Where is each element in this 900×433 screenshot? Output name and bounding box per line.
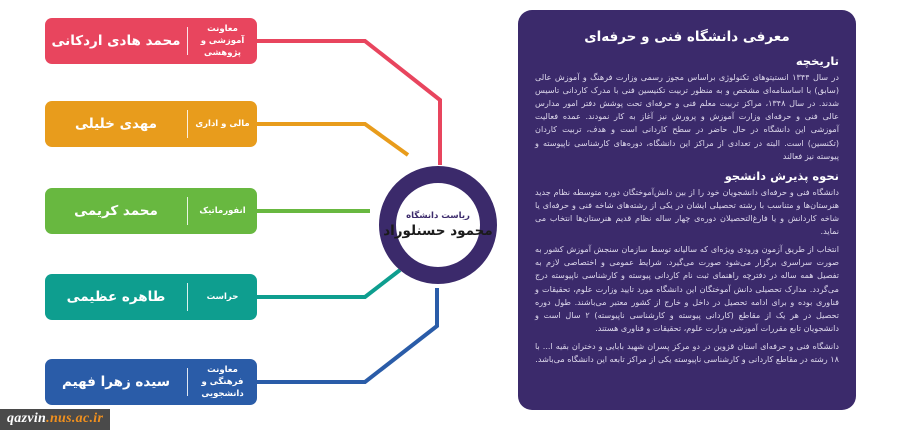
org-unit-role-line2-1: آموزشی و پژوهشی [201, 36, 245, 58]
connector-line-4 [257, 270, 400, 297]
org-unit-divider-2 [187, 110, 188, 138]
org-unit-role-2: مالی و اداری [188, 101, 257, 147]
org-center-role: ریاست دانشگاه [406, 211, 470, 221]
info-section-paragraph-admission-2: انتخاب از طریق آزمون ورودی ویژه‌ای که سا… [535, 243, 839, 335]
connector-line-2 [257, 124, 408, 155]
org-unit-role-5: معاونت فرهنگی و دانشجویی [188, 359, 257, 405]
org-unit-role-line2-5: فرهنگی و دانشجویی [201, 377, 243, 399]
org-unit-role-1: معاونت آموزشی و پژوهشی [188, 18, 257, 64]
org-unit-divider-5 [187, 368, 188, 396]
org-unit-person-5: سیده زهرا فهیم [45, 359, 187, 405]
info-section-paragraph-admission-1: دانشگاه فنی و حرفه‌ای دانشجویان خود را ا… [535, 186, 839, 238]
org-unit-role-line1-1: معاونت [207, 24, 238, 34]
info-panel-title: معرفی دانشگاه فنی و حرفه‌ای [535, 29, 839, 45]
org-unit-box-1[interactable]: معاونت آموزشی و پژوهشی محمد هادی اردکانی [45, 18, 257, 64]
connector-line-1 [257, 41, 440, 165]
org-center-person: محمود حسنلوراد [383, 223, 493, 239]
org-unit-person-4: طاهره عظیمی [45, 274, 187, 320]
site-watermark: qazvin.nus.ac.ir [0, 409, 110, 430]
org-unit-role-line1-4: حراست [207, 291, 239, 303]
org-unit-role-line1-2: مالی و اداری [195, 118, 249, 130]
info-section-heading-history: تاریخچه [535, 54, 839, 68]
org-unit-box-5[interactable]: معاونت فرهنگی و دانشجویی سیده زهرا فهیم [45, 359, 257, 405]
org-unit-box-2[interactable]: مالی و اداری مهدی خلیلی [45, 101, 257, 147]
org-unit-person-1: محمد هادی اردکانی [45, 18, 187, 64]
watermark-prefix: qazvin [7, 411, 46, 426]
info-panel: معرفی دانشگاه فنی و حرفه‌ای تاریخچه در س… [518, 10, 856, 410]
org-unit-divider-3 [187, 197, 188, 225]
info-section-heading-admission: نحوه پذیرش دانشجو [535, 169, 839, 183]
info-section-paragraph-history-1: در سال ۱۳۴۴ انستیتوهای تکنولوژی براساس م… [535, 71, 839, 163]
org-unit-person-3: محمد کریمی [45, 188, 187, 234]
org-unit-person-2: مهدی خلیلی [45, 101, 187, 147]
org-unit-box-3[interactable]: انفورماتیک محمد کریمی [45, 188, 257, 234]
connector-line-5 [257, 288, 437, 382]
org-chart-region: معاونت آموزشی و پژوهشی محمد هادی اردکانی… [0, 0, 520, 433]
info-section-paragraph-admission-3: دانشگاه فنی و حرفه‌ای استان قزوین در دو … [535, 340, 839, 366]
org-unit-divider-4 [187, 283, 188, 311]
org-unit-divider-1 [187, 27, 188, 55]
org-chart-page: معاونت آموزشی و پژوهشی محمد هادی اردکانی… [0, 0, 900, 433]
org-unit-role-4: حراست [188, 274, 257, 320]
org-unit-role-3: انفورماتیک [188, 188, 257, 234]
org-unit-box-4[interactable]: حراست طاهره عظیمی [45, 274, 257, 320]
org-unit-role-line1-5: معاونت [207, 365, 238, 375]
watermark-suffix: .nus.ac.ir [46, 411, 103, 426]
org-center-node[interactable]: ریاست دانشگاه محمود حسنلوراد [379, 166, 497, 284]
org-unit-role-line1-3: انفورماتیک [199, 205, 245, 217]
